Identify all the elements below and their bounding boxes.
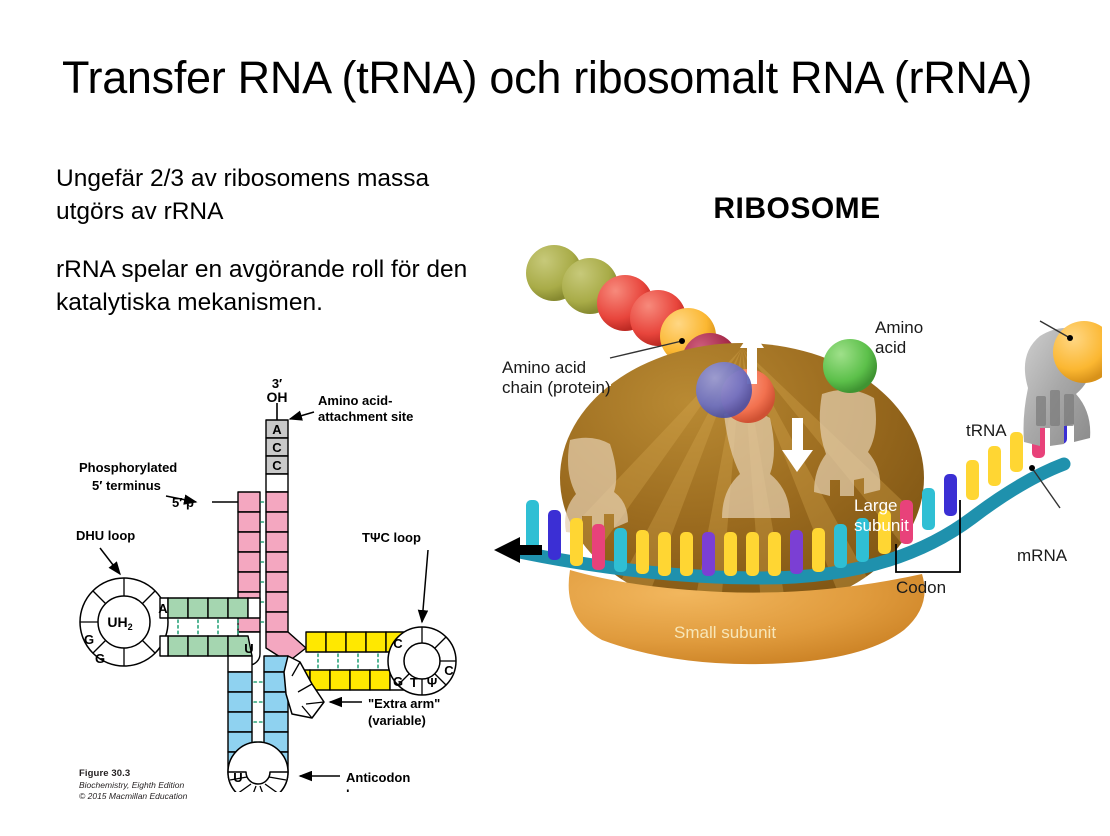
label-trna: tRNA (966, 421, 1007, 441)
slide-canvas: Transfer RNA (tRNA) och ribosomalt RNA (… (0, 0, 1110, 836)
tpsic-hbonds (318, 654, 378, 668)
label-amino-acid-chain: Amino acid chain (protein) (502, 358, 611, 398)
free-trna (1024, 321, 1103, 446)
trna-cloverleaf-figure: A C C U A G G C G T Ψ C U UH2 (62, 372, 482, 792)
label-dhu-loop: DHU loop (76, 528, 135, 543)
page-title: Transfer RNA (tRNA) och ribosomalt RNA (… (62, 52, 1062, 104)
label-large-subunit-line1: Large (854, 496, 909, 516)
figure-number: Figure 30.3 (79, 768, 187, 779)
ribosome-title: RIBOSOME (492, 192, 1102, 226)
base-c-terminal-1: C (272, 440, 282, 455)
base-c-terminal-2: C (272, 458, 282, 473)
dhu-hbonds (178, 620, 238, 634)
base-t-tpsic: T (410, 675, 418, 690)
label-codon: Codon (896, 578, 946, 598)
label-large-subunit-line2: subunit (854, 516, 909, 536)
leader-tpsic-loop (422, 550, 428, 622)
slide-body-text: Ungefär 2/3 av ribosomens massa utgörs a… (56, 163, 476, 319)
ribosome-figure: RIBOSOME (492, 178, 1102, 688)
label-amino-acid-chain-line2: chain (protein) (502, 378, 611, 398)
label-phosphorylated-line1: Phosphorylated (79, 460, 177, 475)
base-psi-tpsic: Ψ (427, 675, 438, 690)
figure-caption: Figure 30.3 Biochemistry, Eighth Edition… (79, 768, 187, 801)
figure-copyright: © 2015 Macmillan Education (79, 791, 187, 801)
base-a-dhu: A (158, 601, 168, 616)
label-amino-acid-line1: Amino (875, 318, 923, 338)
label-amino-acid-chain-line1: Amino acid (502, 358, 611, 378)
label-tpsic-loop: TΨC loop (362, 530, 421, 545)
label-large-subunit: Large subunit (854, 496, 909, 536)
base-c-tpsic-bottom: C (444, 663, 454, 678)
label-amino-acid-line2: acid (875, 338, 923, 358)
base-u-anticodon: U (233, 770, 242, 785)
acceptor-hbonds (261, 502, 265, 622)
paragraph-spacer (56, 228, 476, 254)
figure-source: Biochemistry, Eighth Edition (79, 780, 187, 790)
label-anticodon-line2: loop (346, 787, 373, 792)
body-paragraph-1: Ungefär 2/3 av ribosomens massa utgörs a… (56, 163, 476, 228)
label-small-subunit: Small subunit (674, 623, 776, 643)
body-paragraph-2: rRNA spelar en avgörande roll för den ka… (56, 254, 476, 319)
base-a-terminal: A (272, 422, 282, 437)
interior-sphere-charged (823, 339, 877, 393)
base-u-acceptor: U (244, 641, 253, 656)
label-extra-arm-line2: (variable) (368, 713, 426, 728)
label-amino-acid: Amino acid (875, 318, 923, 358)
label-mrna: mRNA (1017, 546, 1067, 566)
leader-dhu-loop (100, 548, 120, 574)
label-amino-acid-attachment-line2: attachment site (318, 409, 413, 424)
label-anticodon-line1: Anticodon (346, 770, 410, 785)
base-g-tpsic: G (393, 674, 403, 689)
label-amino-acid-attachment-line1: Amino acid- (318, 393, 392, 408)
label-5prime-p: 5′ p (172, 495, 194, 510)
leader-amino-attachment (290, 412, 314, 419)
base-g-dhu-2: G (95, 651, 105, 666)
label-phosphorylated-line2: 5′ terminus (92, 478, 161, 493)
label-oh: OH (267, 389, 288, 405)
interior-sphere-exiting (696, 362, 752, 418)
base-c-tpsic-top: C (393, 636, 403, 651)
label-extra-arm-line1: "Extra arm" (368, 696, 440, 711)
base-g-dhu-1: G (84, 632, 94, 647)
